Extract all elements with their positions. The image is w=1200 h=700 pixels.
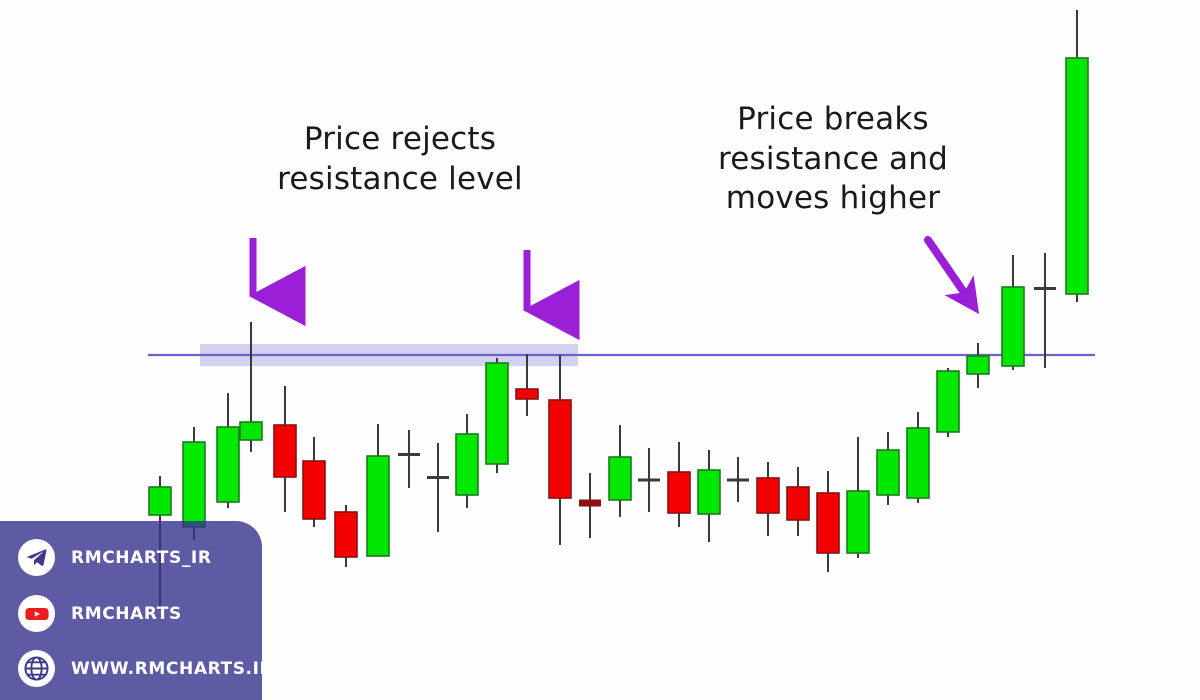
candle-body-bearish <box>516 389 538 399</box>
candle-body-bullish <box>698 470 720 514</box>
candlestick <box>877 432 899 505</box>
watermark-telegram-label: RMCHARTS_IR <box>71 548 212 568</box>
annotation-arrows <box>253 238 970 310</box>
candle-body-bullish <box>456 434 478 495</box>
candlestick <box>609 425 631 517</box>
candlestick <box>967 343 989 388</box>
candlestick <box>1066 10 1088 302</box>
watermark-telegram-row[interactable]: RMCHARTS_IR <box>18 539 212 576</box>
candlestick <box>303 437 325 527</box>
candlestick <box>1034 253 1056 368</box>
chart-canvas: Price rejects resistance level Price bre… <box>0 0 1200 700</box>
candlestick <box>757 462 779 536</box>
candlestick <box>427 443 449 532</box>
globe-icon <box>18 650 55 687</box>
candle-body-bullish <box>183 442 205 527</box>
youtube-icon <box>18 595 55 632</box>
candle-body-bullish <box>847 491 869 553</box>
candle-body-bearish <box>335 512 357 557</box>
candle-body-bullish <box>907 428 929 498</box>
candle-body-bearish <box>549 400 571 498</box>
candle-body-bullish <box>149 487 171 515</box>
watermark-youtube-label: RMCHARTS <box>71 604 182 624</box>
telegram-icon <box>18 539 55 576</box>
candle-body-bullish <box>486 363 508 464</box>
candlestick <box>486 358 508 473</box>
watermark-website-label: WWW.RMCHARTS.IR <box>71 659 262 679</box>
candle-body-bearish <box>787 487 809 520</box>
candle-body-bullish <box>240 422 262 440</box>
candlestick <box>787 467 809 536</box>
candlestick <box>668 442 690 527</box>
candle-body-bearish <box>668 472 690 513</box>
candlestick <box>217 393 239 508</box>
candlestick <box>579 473 601 538</box>
candlestick <box>817 471 839 572</box>
candle-body-bullish <box>367 456 389 556</box>
arrow-breakout <box>928 240 970 301</box>
candle-body-bullish <box>217 427 239 502</box>
candlestick <box>240 322 262 452</box>
annotation-price-breaks: Price breaks resistance and moves higher <box>688 100 978 219</box>
candlestick <box>335 505 357 567</box>
candle-body-bullish <box>937 371 959 432</box>
candle-body-bearish <box>757 478 779 513</box>
watermark-website-row[interactable]: WWW.RMCHARTS.IR <box>18 650 262 687</box>
watermark-youtube-row[interactable]: RMCHARTS <box>18 595 182 632</box>
candle-body-bearish <box>303 461 325 519</box>
candlestick <box>456 414 478 508</box>
candlestick <box>847 437 869 558</box>
candlestick <box>1002 255 1024 370</box>
candlestick <box>274 386 296 512</box>
candle-body-bullish <box>877 450 899 495</box>
candlestick <box>398 430 420 488</box>
candlestick <box>638 448 660 512</box>
annotation-price-rejects: Price rejects resistance level <box>250 120 550 199</box>
candlestick <box>367 424 389 556</box>
candlestick <box>907 412 929 503</box>
candle-body-bullish <box>1002 287 1024 366</box>
resistance-zone <box>148 344 1095 366</box>
candle-body-bullish <box>1066 58 1088 294</box>
candle-body-bullish <box>967 356 989 374</box>
candle-body-bearish <box>817 493 839 553</box>
watermark-panel: RMCHARTS_IR RMCHARTS <box>0 521 262 700</box>
candle-body-bullish <box>609 457 631 500</box>
candle-body-bearish <box>274 425 296 477</box>
candlestick <box>549 355 571 545</box>
candlestick <box>698 450 720 542</box>
candlestick <box>727 457 749 502</box>
candlestick <box>937 368 959 437</box>
